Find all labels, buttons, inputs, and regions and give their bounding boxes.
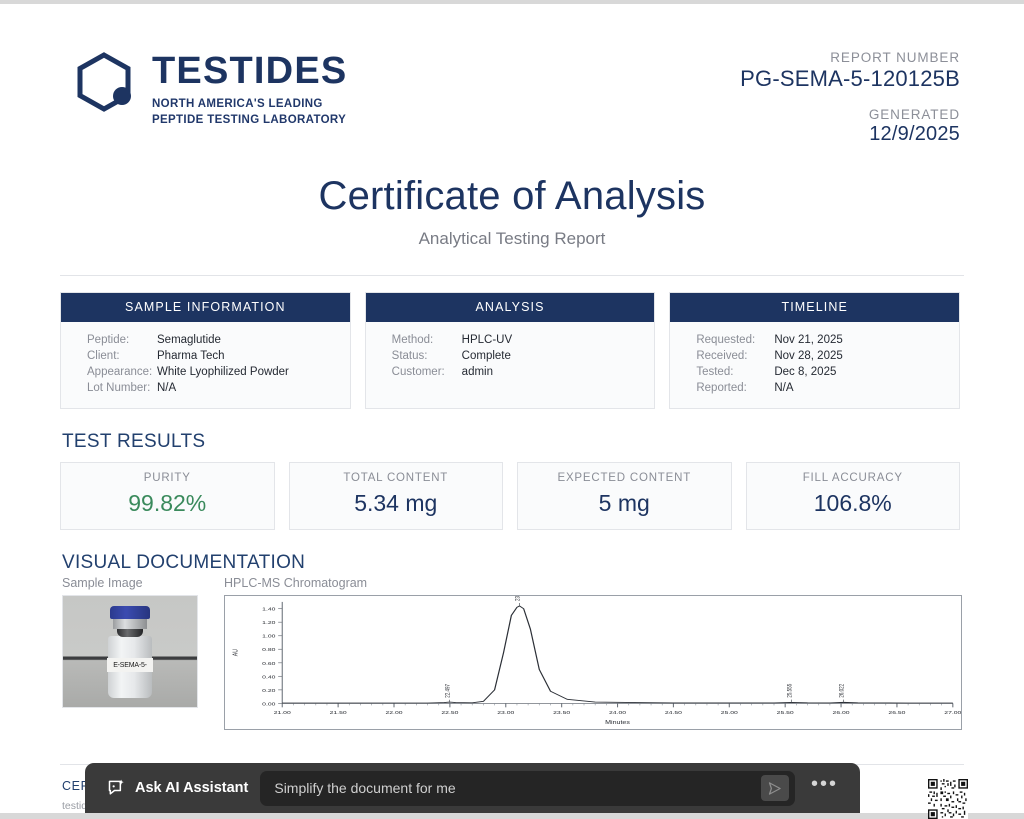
row-value: White Lyophilized Powder <box>157 364 289 380</box>
ai-prompt-input[interactable]: Simplify the document for me <box>260 771 795 806</box>
report-number-value: PG-SEMA-5-120125B <box>740 66 960 92</box>
card-label: EXPECTED CONTENT <box>518 472 731 484</box>
svg-text:26.50: 26.50 <box>888 711 906 716</box>
svg-text:AU: AU <box>232 649 240 656</box>
row-value: Pharma Tech <box>157 348 225 364</box>
sample-image-column: Sample Image E-SEMA-5- <box>62 576 198 730</box>
row-value: admin <box>462 364 493 380</box>
result-card-fill-accuracy: FILL ACCURACY 106.8% <box>746 462 961 530</box>
svg-text:26.00: 26.00 <box>833 711 851 716</box>
row-value: N/A <box>157 380 176 396</box>
vial-neck <box>113 618 147 629</box>
svg-text:24.50: 24.50 <box>665 711 683 716</box>
row-value: Nov 28, 2025 <box>774 348 842 364</box>
test-results-cards: PURITY 99.82% TOTAL CONTENT 5.34 mg EXPE… <box>0 453 1024 530</box>
panel-analysis: ANALYSIS Method: HPLC-UV Status: Complet… <box>365 292 656 409</box>
result-card-expected-content: EXPECTED CONTENT 5 mg <box>517 462 732 530</box>
row-key: Received: <box>670 348 774 364</box>
row-key: Status: <box>366 348 462 364</box>
row-value: Dec 8, 2025 <box>774 364 836 380</box>
qr-code-icon[interactable] <box>928 779 968 819</box>
card-value: 5.34 mg <box>290 490 503 517</box>
panel-heading: SAMPLE INFORMATION <box>61 293 350 322</box>
row-value: Semaglutide <box>157 332 221 348</box>
certificate-page: TESTIDES NORTH AMERICA'S LEADING PEPTIDE… <box>0 4 1024 813</box>
row-key: Lot Number: <box>61 380 157 396</box>
ask-ai-label: Ask AI Assistant <box>135 780 248 796</box>
row-value: HPLC-UV <box>462 332 512 348</box>
panel-heading: ANALYSIS <box>366 293 655 322</box>
panel-timeline: TIMELINE Requested: Nov 21, 2025 Receive… <box>669 292 960 409</box>
hexagon-peptide-icon <box>72 50 136 119</box>
row-key: Client: <box>61 348 157 364</box>
svg-text:0.20: 0.20 <box>262 689 276 694</box>
sample-vial-photo[interactable]: E-SEMA-5- <box>62 595 198 708</box>
brand-block: TESTIDES NORTH AMERICA'S LEADING PEPTIDE… <box>72 44 347 128</box>
send-icon[interactable] <box>761 775 789 801</box>
page-title: Certificate of Analysis <box>0 174 1024 219</box>
svg-text:0.40: 0.40 <box>262 675 276 680</box>
peak-annotation: 25.555 <box>787 684 794 698</box>
report-meta: REPORT NUMBER PG-SEMA-5-120125B GENERATE… <box>740 44 960 146</box>
row-key: Method: <box>366 332 462 348</box>
brand-tagline-1: NORTH AMERICA'S LEADING <box>152 97 347 113</box>
svg-text:0.00: 0.00 <box>262 702 276 707</box>
panel-row-spacer <box>366 380 655 396</box>
vial-label-text: E-SEMA-5- <box>107 658 153 672</box>
row-key: Appearance: <box>61 364 157 380</box>
panel-row: Status: Complete <box>366 348 655 364</box>
visual-documentation-row: Sample Image E-SEMA-5- HPLC-MS Chromatog… <box>0 574 1024 730</box>
info-panels: SAMPLE INFORMATION Peptide: Semaglutide … <box>0 276 1024 409</box>
row-value: N/A <box>774 380 793 396</box>
svg-text:25.50: 25.50 <box>777 711 795 716</box>
panel-row: Lot Number: N/A <box>61 380 350 396</box>
svg-text:21.50: 21.50 <box>330 711 348 716</box>
ask-ai-assistant-button[interactable]: Ask AI Assistant <box>99 778 248 798</box>
panel-row: Received: Nov 28, 2025 <box>670 348 959 364</box>
card-label: TOTAL CONTENT <box>290 472 503 484</box>
result-card-purity: PURITY 99.82% <box>60 462 275 530</box>
svg-text:23.50: 23.50 <box>553 711 571 716</box>
svg-text:1.40: 1.40 <box>262 607 276 612</box>
card-value: 5 mg <box>518 490 731 517</box>
test-results-heading: TEST RESULTS <box>0 409 1024 453</box>
ai-assistant-bar[interactable]: Ask AI Assistant Simplify the document f… <box>85 763 860 813</box>
svg-text:25.00: 25.00 <box>721 711 739 716</box>
document-header: TESTIDES NORTH AMERICA'S LEADING PEPTIDE… <box>0 4 1024 146</box>
chromatogram-label: HPLC-MS Chromatogram <box>224 576 962 595</box>
svg-text:23.00: 23.00 <box>497 711 515 716</box>
ai-input-value[interactable]: Simplify the document for me <box>274 780 761 796</box>
card-value: 99.82% <box>61 490 274 517</box>
visual-documentation-heading: VISUAL DOCUMENTATION <box>0 530 1024 574</box>
row-key: Tested: <box>670 364 774 380</box>
svg-text:27.00: 27.00 <box>944 711 961 716</box>
svg-text:21.00: 21.00 <box>274 711 292 716</box>
panel-heading: TIMELINE <box>670 293 959 322</box>
peak-annotation: 23.123 <box>515 596 522 601</box>
chromatogram-column: HPLC-MS Chromatogram 0.000.200.400.600.8… <box>224 576 1024 730</box>
panel-row: Client: Pharma Tech <box>61 348 350 364</box>
panel-row: Customer: admin <box>366 364 655 380</box>
chromatogram-plot[interactable]: 0.000.200.400.600.801.001.201.40AU21.002… <box>224 595 962 730</box>
card-label: FILL ACCURACY <box>747 472 960 484</box>
svg-text:22.00: 22.00 <box>385 711 403 716</box>
title-block: Certificate of Analysis Analytical Testi… <box>0 174 1024 249</box>
vial-cap <box>110 606 150 619</box>
generated-value: 12/9/2025 <box>740 123 960 146</box>
vial-shoulder <box>117 628 143 637</box>
page-subtitle: Analytical Testing Report <box>0 229 1024 249</box>
peak-annotation: 22.497 <box>445 684 452 698</box>
ai-more-options-button[interactable]: ••• <box>807 773 846 804</box>
row-value: Complete <box>462 348 511 364</box>
panel-row: Reported: N/A <box>670 380 959 396</box>
peak-annotation: 26.022 <box>839 684 846 698</box>
chromatogram-trace <box>282 606 953 703</box>
panel-row: Requested: Nov 21, 2025 <box>670 332 959 348</box>
row-key: Peptide: <box>61 332 157 348</box>
card-label: PURITY <box>61 472 274 484</box>
svg-text:22.50: 22.50 <box>441 711 459 716</box>
panel-row: Peptide: Semaglutide <box>61 332 350 348</box>
generated-label: GENERATED <box>740 107 960 122</box>
chromatogram-svg: 0.000.200.400.600.801.001.201.40AU21.002… <box>225 596 961 729</box>
row-key: Customer: <box>366 364 462 380</box>
svg-text:1.20: 1.20 <box>262 621 276 626</box>
row-key: Requested: <box>670 332 774 348</box>
panel-row: Appearance: White Lyophilized Powder <box>61 364 350 380</box>
brand-tagline-2: PEPTIDE TESTING LABORATORY <box>152 113 347 129</box>
svg-text:0.60: 0.60 <box>262 661 276 666</box>
svg-text:1.00: 1.00 <box>262 634 276 639</box>
svg-text:Minutes: Minutes <box>605 720 630 726</box>
sample-image-label: Sample Image <box>62 576 198 595</box>
svg-text:24.00: 24.00 <box>609 711 627 716</box>
panel-row: Method: HPLC-UV <box>366 332 655 348</box>
panel-row: Tested: Dec 8, 2025 <box>670 364 959 380</box>
panel-sample-information: SAMPLE INFORMATION Peptide: Semaglutide … <box>60 292 351 409</box>
card-value: 106.8% <box>747 490 960 517</box>
report-number-label: REPORT NUMBER <box>740 50 960 65</box>
svg-text:0.80: 0.80 <box>262 648 276 653</box>
brand-name: TESTIDES <box>152 52 347 90</box>
ai-sparkle-chat-icon <box>107 778 127 798</box>
result-card-total-content: TOTAL CONTENT 5.34 mg <box>289 462 504 530</box>
row-key: Reported: <box>670 380 774 396</box>
row-value: Nov 21, 2025 <box>774 332 842 348</box>
